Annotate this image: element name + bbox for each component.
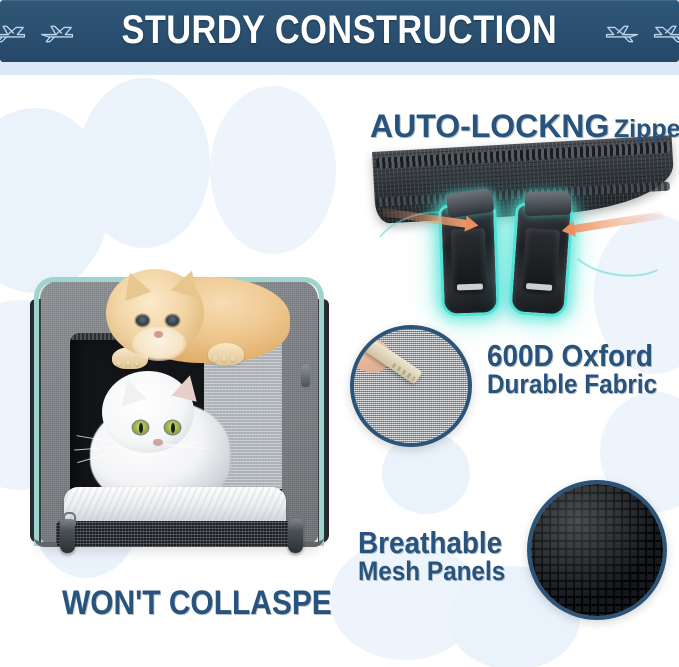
oxford-fabric-headline: 600D Oxford Durable Fabric — [487, 340, 676, 398]
mesh-headline-line2: Mesh Panels — [358, 558, 505, 585]
header-banner: STURDY CONSTRUCTION — [0, 0, 679, 62]
infographic-page: STURDY CONSTRUCTION — [0, 0, 679, 667]
mesh-panel-headline: Breathable Mesh Panels — [358, 527, 522, 585]
mesh-headline-line1: Breathable — [358, 527, 505, 558]
oxford-headline-line2: Durable Fabric — [487, 371, 657, 398]
zipper-headline-tail: Zippers — [614, 115, 679, 143]
oxford-headline-line1: 600D Oxford — [487, 340, 657, 371]
carrier-trim-right — [308, 303, 324, 546]
airplane-icon-right-2 — [651, 16, 679, 46]
mesh-panel-circle-photo — [527, 480, 667, 620]
zipper-headline-lead: AUTO-LOCKNG — [370, 108, 609, 144]
auto-lock-zipper-pull-right[interactable] — [508, 202, 574, 318]
zipper-closeup-photo — [372, 152, 672, 320]
carrier-trim-left — [34, 303, 50, 546]
airplane-icon-right-1 — [603, 16, 641, 46]
carrier-bottom-mesh-band — [56, 521, 296, 547]
airplane-icon-left-2 — [38, 16, 76, 46]
zipper-pull-bottom-right[interactable] — [288, 519, 303, 553]
ginger-cat-on-top — [90, 255, 290, 375]
oxford-fabric-circle-photo — [350, 325, 472, 447]
zipper-headline: AUTO-LOCKNG Zippers — [370, 110, 679, 142]
white-cat-inside — [86, 353, 236, 503]
banner-underline-strip — [0, 62, 679, 75]
zipper-pull-side-right[interactable] — [301, 365, 310, 387]
carrier-product-photo — [18, 255, 338, 560]
page-title: STURDY CONSTRUCTION — [122, 10, 558, 52]
airplane-icon-left-1 — [0, 16, 28, 46]
zipper-pull-bottom-left[interactable] — [60, 519, 75, 553]
wont-collapse-headline: WON'T COLLASPE — [62, 586, 332, 620]
